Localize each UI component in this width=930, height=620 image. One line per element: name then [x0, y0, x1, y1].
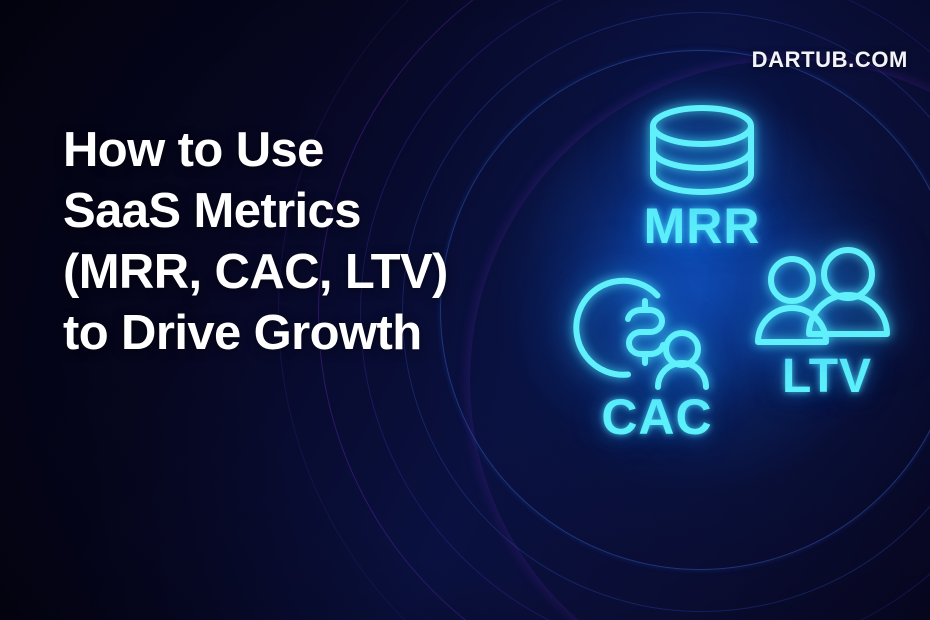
metric-ltv-label: LTV	[752, 352, 902, 402]
banner-canvas: DARTUB.COM How to Use SaaS Metrics (MRR,…	[0, 0, 930, 620]
metric-mrr: MRR	[612, 104, 792, 252]
title-line-4: to Drive Growth	[63, 303, 523, 364]
title-line-3: (MRR, CAC, LTV)	[63, 242, 523, 303]
site-watermark: DARTUB.COM	[752, 47, 908, 73]
database-icon	[612, 104, 792, 196]
metric-ltv: LTV	[752, 248, 902, 402]
page-title: How to Use SaaS Metrics (MRR, CAC, LTV) …	[63, 120, 523, 364]
users-group-icon	[752, 248, 902, 350]
title-line-1: How to Use	[63, 120, 523, 181]
metric-cac-label: CAC	[562, 391, 752, 443]
metric-mrr-label: MRR	[612, 200, 792, 252]
metric-cac: CAC	[562, 279, 752, 443]
dollar-circle-user-icon	[562, 279, 752, 393]
title-line-2: SaaS Metrics	[63, 181, 523, 242]
